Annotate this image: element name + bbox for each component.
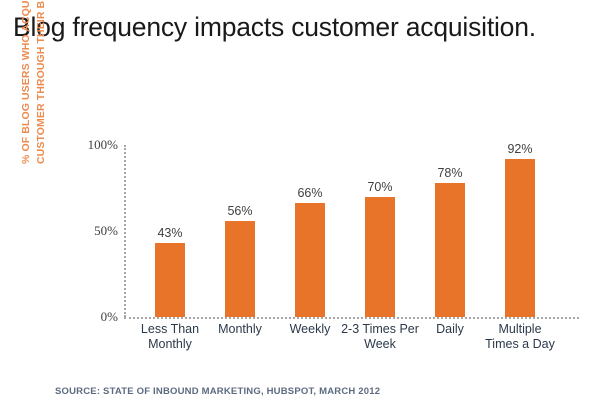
bar-group[interactable]: 56% <box>205 199 275 317</box>
source-note: SOURCE: STATE OF INBOUND MARKETING, HUBS… <box>55 386 380 397</box>
bar[interactable] <box>225 221 255 317</box>
bar-value-label: 56% <box>205 204 275 218</box>
x-category-label-line: Multiple <box>472 322 568 337</box>
bar[interactable] <box>505 159 535 317</box>
bar[interactable] <box>295 203 325 317</box>
x-category-label: MultipleTimes a Day <box>472 322 568 352</box>
bar-series: 43%56%66%70%78%92% <box>0 0 600 418</box>
x-category-label-line: Week <box>332 337 428 352</box>
bar-group[interactable]: 78% <box>415 161 485 317</box>
bar-value-label: 66% <box>275 186 345 200</box>
bar-value-label: 70% <box>345 180 415 194</box>
bar[interactable] <box>435 183 465 317</box>
bar-group[interactable]: 43% <box>135 221 205 317</box>
bar-group[interactable]: 66% <box>275 181 345 317</box>
bar-value-label: 78% <box>415 166 485 180</box>
x-category-label-line: Times a Day <box>472 337 568 352</box>
bar-group[interactable]: 70% <box>345 175 415 317</box>
bar-group[interactable]: 92% <box>485 137 555 317</box>
x-category-label-line: Monthly <box>122 337 218 352</box>
bar-value-label: 92% <box>485 142 555 156</box>
bar[interactable] <box>365 197 395 317</box>
bar-value-label: 43% <box>135 226 205 240</box>
bar[interactable] <box>155 243 185 317</box>
chart-plot-area: 100% 50% 0% % OF BLOG USERS WHO ACQUIRED… <box>0 0 600 418</box>
